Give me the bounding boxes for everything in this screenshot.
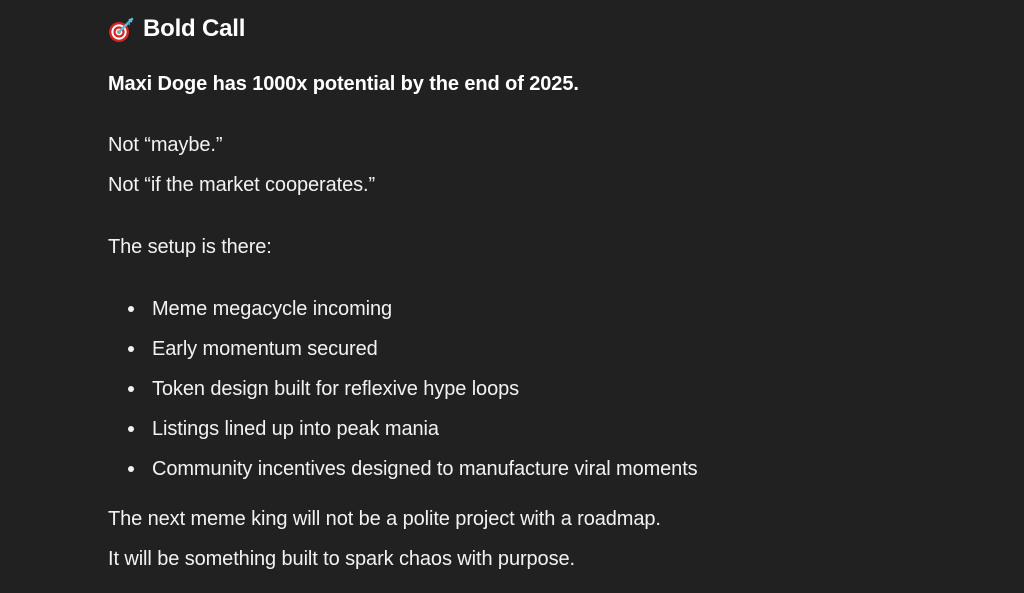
negation-line-1: Not “maybe.” [108, 131, 375, 159]
bullet-icon [108, 375, 152, 403]
setup-bullet-list: Meme megacycle incoming Early momentum s… [108, 295, 698, 495]
setup-intro-block: The setup is there: [108, 233, 272, 261]
bullet-icon [108, 295, 152, 323]
closing-line-2: It will be something built to spark chao… [108, 545, 661, 573]
bullet-icon [108, 335, 152, 363]
negation-block: Not “maybe.” Not “if the market cooperat… [108, 131, 375, 199]
setup-intro-text: The setup is there: [108, 233, 272, 261]
page-title-text: Bold Call [143, 14, 245, 44]
list-item: Meme megacycle incoming [108, 295, 698, 335]
closing-line-1: The next meme king will not be a polite … [108, 505, 661, 533]
bullet-icon [108, 455, 152, 483]
negation-line-2: Not “if the market cooperates.” [108, 171, 375, 199]
list-item: Community incentives designed to manufac… [108, 455, 698, 495]
bullet-icon [108, 415, 152, 443]
list-item: Token design built for reflexive hype lo… [108, 375, 698, 415]
list-item: Listings lined up into peak mania [108, 415, 698, 455]
page-title: Bold Call [108, 12, 984, 46]
list-item-label: Early momentum secured [152, 335, 378, 363]
article-body: Bold Call Maxi Doge has 1000x potential … [0, 0, 1024, 593]
list-item-label: Listings lined up into peak mania [152, 415, 439, 443]
direct-hit-target-icon [108, 17, 134, 43]
list-item-label: Meme megacycle incoming [152, 295, 392, 323]
list-item-label: Token design built for reflexive hype lo… [152, 375, 519, 403]
list-item-label: Community incentives designed to manufac… [152, 455, 698, 483]
list-item: Early momentum secured [108, 335, 698, 375]
closing-block: The next meme king will not be a polite … [108, 505, 661, 573]
lede-statement: Maxi Doge has 1000x potential by the end… [108, 70, 579, 98]
